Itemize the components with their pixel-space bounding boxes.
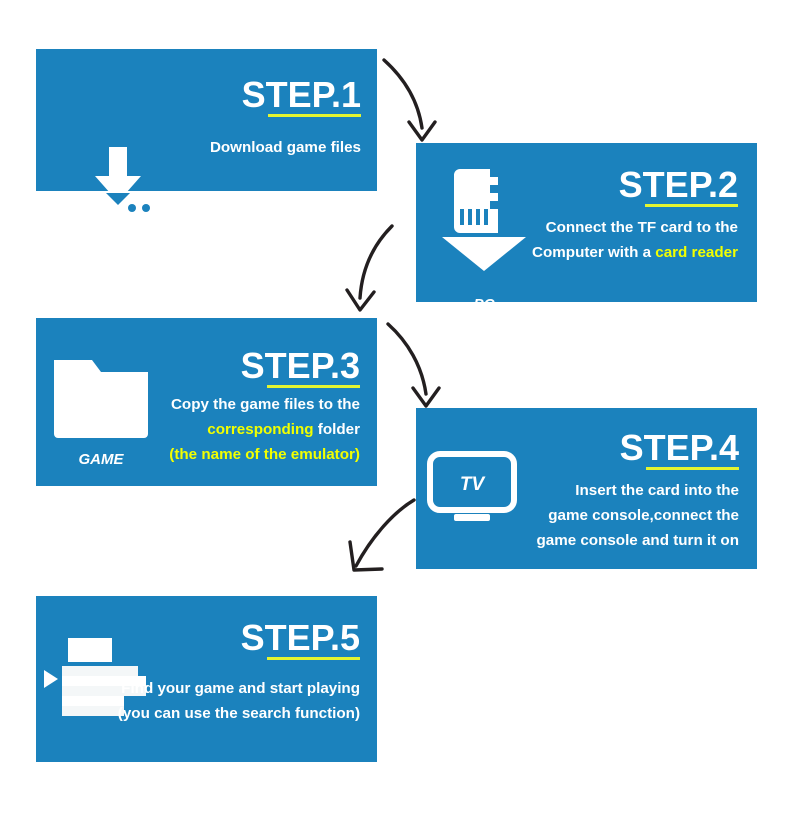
step-title-underline-2 — [645, 204, 738, 207]
step-desc-line: game console,connect the — [508, 503, 739, 528]
step-title-underline-1 — [268, 114, 361, 117]
download-to-drive-icon — [76, 145, 160, 227]
step-desc-line: (the name of the emulator) — [128, 442, 360, 467]
step-guide-infographic: STEP.1 Download game files — [0, 0, 790, 823]
step-title-wrap-1: STEP.1 — [242, 75, 361, 115]
step-text-2: STEP.2 Connect the TF card to the Comput… — [516, 165, 738, 265]
step-desc-line: Computer with a card reader — [516, 240, 738, 265]
step-desc-line: Copy the game files to the — [128, 392, 360, 417]
step-title-wrap-5: STEP.5 — [241, 618, 360, 658]
step-card-1: STEP.1 Download game files — [36, 49, 377, 191]
svg-text:TV: TV — [460, 474, 486, 495]
step-desc-line: Insert the card into the — [508, 478, 739, 503]
desc-part-highlight: card reader — [655, 244, 738, 261]
desc-part: folder — [314, 421, 360, 438]
icon-label-pc: PC — [440, 296, 528, 313]
flow-arrow-2 — [330, 218, 406, 320]
step-text-1: STEP.1 Download game files — [156, 75, 361, 160]
step-card-4: TV STEP.4 Insert the card into the game … — [416, 408, 757, 569]
step-title-wrap-3: STEP.3 — [241, 346, 360, 386]
step-text-4: STEP.4 Insert the card into the game con… — [508, 428, 739, 553]
step-title-wrap-4: STEP.4 — [620, 428, 739, 468]
step-title-2: STEP.2 — [619, 165, 738, 205]
step-desc-line: game console and turn it on — [508, 528, 739, 553]
step-text-5: STEP.5 Find your game and start playing … — [112, 618, 360, 726]
step-title-4: STEP.4 — [620, 428, 739, 468]
step-title-3: STEP.3 — [241, 346, 360, 386]
step-desc-line: Download game files — [156, 135, 361, 160]
step-desc-3: Copy the game files to the corresponding… — [128, 392, 360, 467]
flow-arrow-1 — [378, 52, 454, 148]
step-card-5: STEP.5 Find your game and start playing … — [36, 596, 377, 762]
step-card-3: GAME STEP.3 Copy the game files to the c… — [36, 318, 377, 486]
step-card-2: PC STEP.2 Connect the TF card to the Com… — [416, 143, 757, 302]
step-desc-4: Insert the card into the game console,co… — [508, 478, 739, 553]
desc-part: Copy the game files to the — [171, 396, 360, 413]
desc-part-highlight: corresponding — [207, 421, 313, 438]
desc-part: Computer with a — [532, 244, 655, 261]
step-desc-line: Connect the TF card to the — [516, 215, 738, 240]
step-title-underline-5 — [267, 657, 360, 660]
step-text-3: STEP.3 Copy the game files to the corres… — [128, 346, 360, 467]
step-title-1: STEP.1 — [242, 75, 361, 115]
step-desc-2: Connect the TF card to the Computer with… — [516, 215, 738, 265]
step-desc-line: (you can use the search function) — [112, 701, 360, 726]
tf-card-to-pc-icon: PC — [440, 167, 528, 289]
desc-part: Connect the TF card to the — [546, 219, 738, 236]
step-title-underline-4 — [646, 467, 739, 470]
step-title-5: STEP.5 — [241, 618, 360, 658]
step-title-underline-3 — [267, 385, 360, 388]
step-desc-line: Find your game and start playing — [112, 676, 360, 701]
step-desc-1: Download game files — [156, 135, 361, 160]
step-title-wrap-2: STEP.2 — [619, 165, 738, 205]
flow-arrow-3 — [382, 318, 458, 414]
step-desc-line: corresponding folder — [128, 417, 360, 442]
flow-arrow-4 — [334, 490, 428, 594]
step-desc-5: Find your game and start playing (you ca… — [112, 676, 360, 726]
